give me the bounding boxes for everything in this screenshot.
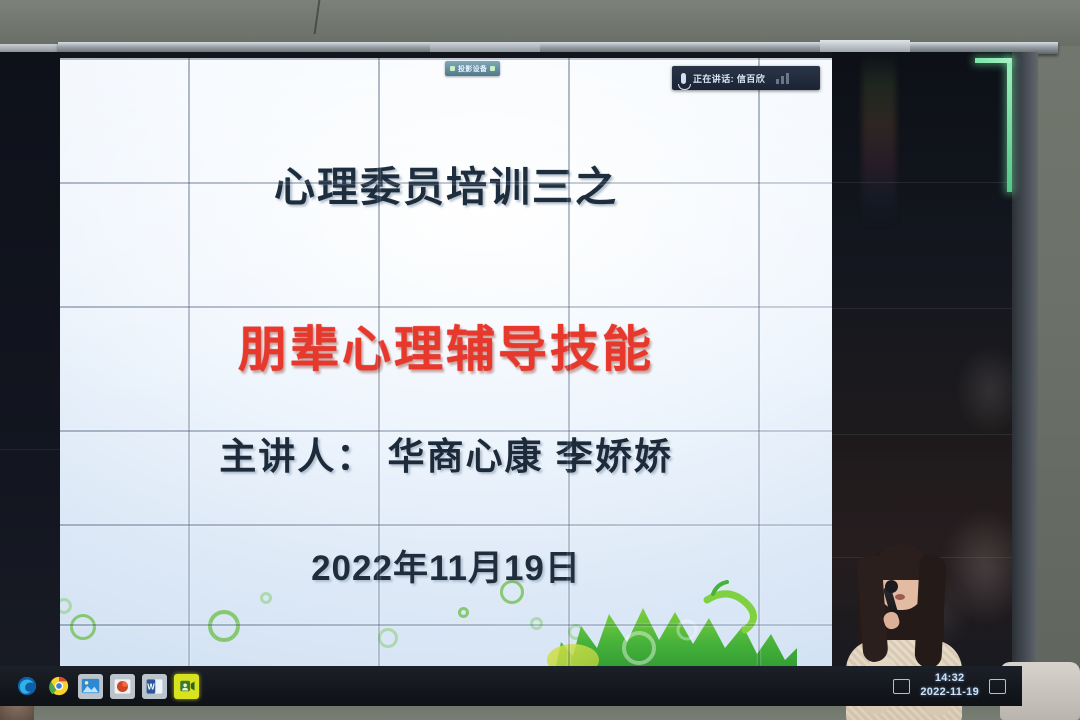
taskbar-item-photos[interactable] [78,674,103,699]
green-led-strip-horizontal [975,58,1011,63]
cast-status-label: 投影设备 [458,64,487,74]
panel-seam-horizontal [60,306,832,308]
panel-seam-vertical [568,58,570,666]
windows-taskbar[interactable]: W 14:32 2022-11-19 [0,666,1022,706]
panel-seam-horizontal [60,430,832,432]
slide-date-line: 2022年11月19日 [60,540,832,591]
panel-seam-horizontal [832,182,1022,183]
wall-right-column [1012,52,1038,666]
microphone-icon [681,73,686,84]
taskbar-item-word[interactable]: W [142,674,167,699]
clock-date: 2022-11-19 [920,686,979,700]
slide-presenter-line: 主讲人： 华商心康 李娇娇 [60,426,832,480]
chrome-icon [48,675,70,697]
taskbar-item-chrome[interactable] [46,674,71,699]
presentation-slide[interactable]: 心理委员培训三之 朋辈心理辅导技能 主讲人： 华商心康 李娇娇 2022年11月… [60,58,832,666]
svg-text:W: W [147,682,155,691]
panel-seam-vertical [378,58,380,666]
slide-text-block: 心理委员培训三之 朋辈心理辅导技能 主讲人： 华商心康 李娇娇 2022年11月… [60,58,832,666]
green-led-strip-vertical [1007,58,1012,192]
word-icon: W [145,677,164,696]
signal-bars-icon [776,73,789,84]
edge-icon [16,675,38,697]
taskbar-tray: 14:32 2022-11-19 [893,672,1022,700]
presenter-mouth [895,594,905,600]
ceiling-band [0,0,1080,46]
video-wall-left-bezel [0,52,60,666]
cast-status-badge[interactable]: 投影设备 [445,61,500,76]
taskbar-item-meeting-app[interactable] [174,674,199,699]
active-speaker-badge[interactable]: 正在讲话: 信百欣 [672,66,820,90]
active-speaker-label: 正在讲话: 信百欣 [693,72,765,85]
powerpoint-icon [113,677,132,696]
panel-seam-horizontal [60,58,832,60]
photos-icon [81,678,100,694]
panel-seam-horizontal [60,624,832,626]
cast-indicator-icon [490,66,495,71]
panel-seam-vertical [188,58,190,666]
screen-flare [862,52,896,228]
meeting-app-icon [178,677,196,695]
network-icon[interactable] [893,679,910,694]
panel-seam-horizontal [60,524,832,526]
bezel-seam [0,449,60,450]
taskbar-item-edge[interactable] [14,674,39,699]
panel-seam-vertical [758,58,760,666]
taskbar-app-list: W [0,674,199,699]
slide-title-line-2: 朋辈心理辅导技能 [60,310,832,381]
cast-icon [450,66,455,71]
panel-seam-horizontal [60,182,832,184]
taskbar-item-powerpoint[interactable] [110,674,135,699]
notification-icon[interactable] [989,679,1006,694]
taskbar-clock[interactable]: 14:32 2022-11-19 [920,672,979,700]
clock-time: 14:32 [920,672,979,686]
panel-seam-horizontal [832,308,1022,309]
